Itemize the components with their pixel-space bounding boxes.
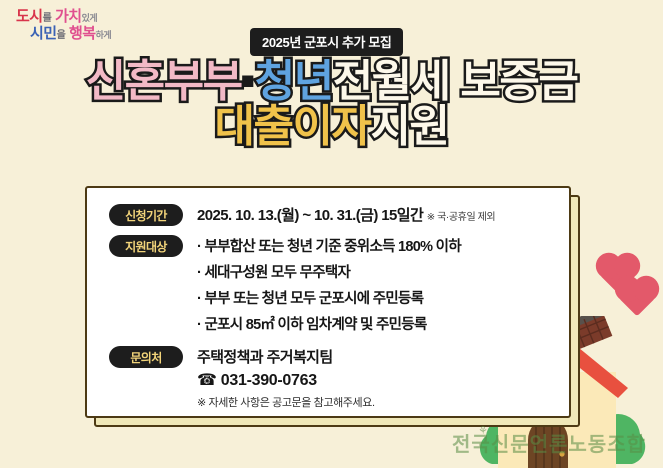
slogan-suffix-itge: 있게 xyxy=(82,13,98,23)
slogan-line-2: 시민을 행복하게 xyxy=(16,25,111,42)
slogan-word-gachi: 가치 xyxy=(55,8,82,25)
row-contact: 문의처 주택정책과 주거복지팀 ☎ 031-390-0763 ※ 자세한 사항은… xyxy=(109,346,375,410)
contact-body: 주택정책과 주거복지팀 ☎ 031-390-0763 ※ 자세한 사항은 공고문… xyxy=(197,346,375,410)
headline-word-deposit: 전월세 보증금 xyxy=(333,60,578,103)
slogan-suffix-hage: 하게 xyxy=(96,30,112,40)
headline-word-newlywed: 신혼부부 xyxy=(86,60,242,103)
headline-separator-dot: · xyxy=(242,60,255,103)
slogan-word-dosi: 도시 xyxy=(16,8,43,25)
headline-word-support: 지원 xyxy=(370,105,448,148)
row-application-period: 신청기간 2025. 10. 13.(월) ~ 10. 31.(금) 15일간 … xyxy=(109,204,495,226)
headline-word-loan-interest: 대출이자 xyxy=(215,105,371,148)
eligibility-bullet: · 부부합산 또는 청년 기준 중위소득 180% 이하 xyxy=(197,235,461,256)
info-card: 신청기간 2025. 10. 13.(월) ~ 10. 31.(금) 15일간 … xyxy=(85,186,571,418)
application-period-body: 2025. 10. 13.(월) ~ 10. 31.(금) 15일간 ※ 국·공… xyxy=(197,204,495,225)
city-slogan: 도시를 가치있게 시민을 행복하게 xyxy=(16,8,111,43)
poster-headline: 신혼부부·청년전월세 보증금 대출이자지원 xyxy=(0,60,663,148)
watermark-text: 전국신문언론노동조합 xyxy=(452,428,646,457)
headline-row-2: 대출이자지원 xyxy=(0,105,663,148)
pill-eligibility: 지원대상 xyxy=(109,235,183,257)
contact-department: 주택정책과 주거복지팀 xyxy=(197,346,375,367)
headline-row-1: 신혼부부·청년전월세 보증금 xyxy=(0,60,663,103)
application-period-note: ※ 국·공휴일 제외 xyxy=(427,212,495,223)
slogan-particle-eul: 을 xyxy=(57,30,66,41)
recruitment-badge: 2025년 군포시 추가 모집 xyxy=(250,28,403,56)
pill-application-period: 신청기간 xyxy=(109,204,183,226)
contact-phone: ☎ 031-390-0763 xyxy=(197,370,375,390)
application-period-value: 2025. 10. 13.(월) ~ 10. 31.(금) 15일간 xyxy=(197,207,423,224)
heart-icon xyxy=(619,280,656,317)
application-period-value-wrap: 2025. 10. 13.(월) ~ 10. 31.(금) 15일간 ※ 국·공… xyxy=(197,204,495,225)
slogan-word-haengbok: 행복 xyxy=(69,25,96,42)
eligibility-body: · 부부합산 또는 청년 기준 중위소득 180% 이하 · 세대구성원 모두 … xyxy=(197,235,461,339)
row-eligibility: 지원대상 · 부부합산 또는 청년 기준 중위소득 180% 이하 · 세대구성… xyxy=(109,235,461,339)
slogan-particle-reul: 를 xyxy=(43,13,52,24)
slogan-word-simin: 시민 xyxy=(30,25,57,42)
contact-note: ※ 자세한 사항은 공고문을 참고해주세요. xyxy=(197,394,375,410)
eligibility-bullet: · 세대구성원 모두 무주택자 xyxy=(197,261,461,282)
pill-contact: 문의처 xyxy=(109,346,183,368)
poster-root: 도시를 가치있게 시민을 행복하게 2025년 군포시 추가 모집 신혼부부·청… xyxy=(0,0,663,468)
eligibility-bullet: · 군포시 85㎡ 이하 임차계약 및 주민등록 xyxy=(197,313,461,334)
eligibility-bullet: · 부부 또는 청년 모두 군포시에 주민등록 xyxy=(197,287,461,308)
slogan-line-1: 도시를 가치있게 xyxy=(16,8,111,25)
headline-word-youth: 청년 xyxy=(255,60,333,103)
